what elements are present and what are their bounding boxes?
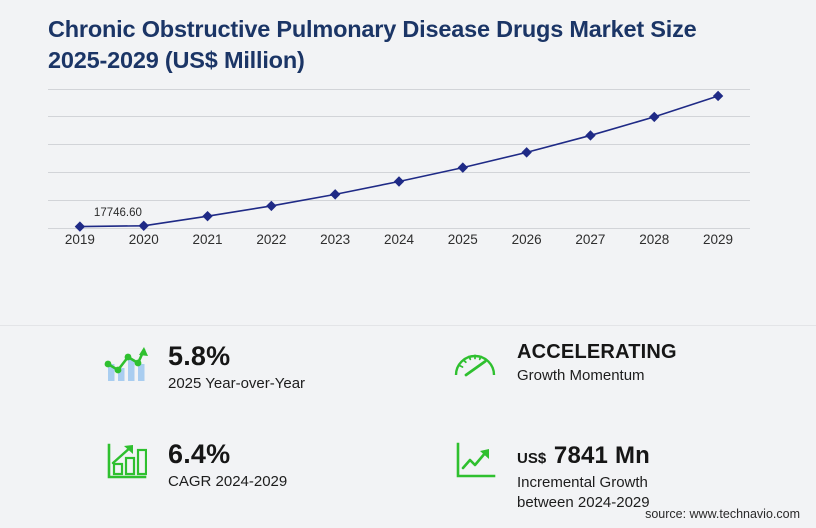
data-point-marker xyxy=(139,221,149,231)
cagr-bars-icon xyxy=(100,438,152,484)
stat-value: ACCELERATING xyxy=(517,341,677,363)
stat-value: 6.4% xyxy=(168,439,287,469)
stat-cagr: 6.4% CAGR 2024-2029 xyxy=(100,430,449,528)
page-title: Chronic Obstructive Pulmonary Disease Dr… xyxy=(48,14,770,76)
stat-body: 6.4% CAGR 2024-2029 xyxy=(168,438,287,492)
x-axis-tick: 2028 xyxy=(622,232,686,247)
data-point-marker xyxy=(202,211,212,221)
x-axis-tick: 2027 xyxy=(559,232,623,247)
stat-value: US$ 7841 Mn xyxy=(517,439,650,470)
currency-unit: US$ xyxy=(517,450,546,467)
stat-value: 5.8% xyxy=(168,341,305,371)
data-point-label: 17746.60 xyxy=(94,207,142,219)
x-axis-tick: 2029 xyxy=(686,232,750,247)
x-axis-tick: 2023 xyxy=(303,232,367,247)
data-point-marker xyxy=(649,112,659,122)
chart-section: 17746.60 2019202020212022202320242025202… xyxy=(0,82,816,312)
x-axis-tick: 2019 xyxy=(48,232,112,247)
data-point-marker xyxy=(75,221,85,231)
x-axis-tick: 2025 xyxy=(431,232,495,247)
stats-grid: 5.8% 2025 Year-over-Year xyxy=(0,332,816,528)
data-point-marker xyxy=(585,130,595,140)
section-divider xyxy=(0,325,816,326)
incremental-growth-icon xyxy=(449,438,501,484)
data-point-marker xyxy=(394,176,404,186)
data-point-marker xyxy=(713,91,723,101)
stat-body: 5.8% 2025 Year-over-Year xyxy=(168,340,305,394)
stat-year-over-year: 5.8% 2025 Year-over-Year xyxy=(100,332,449,430)
stat-body: US$ 7841 Mn Incremental Growth between 2… xyxy=(517,438,650,513)
stat-growth-momentum: ACCELERATING Growth Momentum xyxy=(449,332,798,430)
data-point-marker xyxy=(458,162,468,172)
x-axis-tick: 2021 xyxy=(176,232,240,247)
title-container: Chronic Obstructive Pulmonary Disease Dr… xyxy=(0,0,816,76)
data-point-marker xyxy=(521,147,531,157)
data-point-marker xyxy=(266,201,276,211)
bar-trend-up-icon xyxy=(100,340,152,386)
x-axis-tick: 2026 xyxy=(495,232,559,247)
stat-body: ACCELERATING Growth Momentum xyxy=(517,340,677,387)
stat-label: 2025 Year-over-Year xyxy=(168,374,305,394)
chart-page: Chronic Obstructive Pulmonary Disease Dr… xyxy=(0,0,816,528)
x-axis-tick: 2020 xyxy=(112,232,176,247)
x-axis-tick: 2024 xyxy=(367,232,431,247)
source-attribution: source: www.technavio.com xyxy=(645,507,800,521)
data-point-marker xyxy=(330,189,340,199)
x-axis-tick: 2022 xyxy=(239,232,303,247)
stat-label: Growth Momentum xyxy=(517,366,677,386)
stat-label: Incremental Growth between 2024-2029 xyxy=(517,473,650,514)
stat-label: CAGR 2024-2029 xyxy=(168,472,287,492)
x-axis-ticks: 2019202020212022202320242025202620272028… xyxy=(48,232,750,247)
amount-value: 7841 Mn xyxy=(554,442,650,469)
speedometer-icon xyxy=(449,340,501,386)
